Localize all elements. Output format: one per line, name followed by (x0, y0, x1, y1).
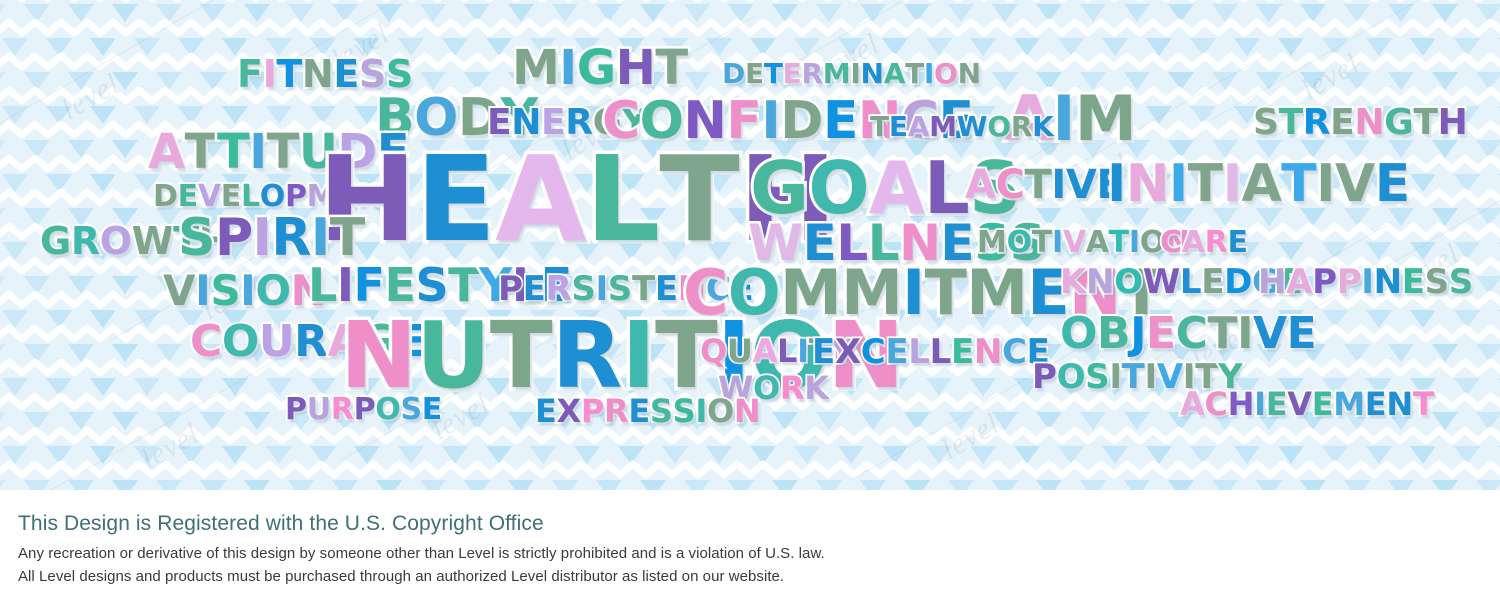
letter: A (1182, 228, 1205, 258)
letter: D (1224, 265, 1252, 299)
letter: N (1126, 158, 1169, 210)
letter: T (490, 310, 552, 402)
letter: E (1375, 158, 1410, 210)
letter: N (974, 335, 1002, 369)
letter: R (1011, 113, 1032, 141)
letter: T (1413, 388, 1435, 420)
letter: H (616, 44, 656, 92)
letter: V (163, 270, 195, 312)
word-cloud-artwork: levellevellevellevellevellevellevellevel… (0, 0, 1500, 490)
letter: I (1254, 388, 1266, 420)
letter: A (1086, 228, 1109, 258)
letter: E (812, 335, 835, 369)
letter: R (802, 60, 823, 88)
letter: T (217, 128, 249, 176)
letter: A (965, 165, 996, 205)
letter: V (1287, 388, 1311, 420)
letter: I (195, 270, 210, 312)
letter: T (1279, 105, 1303, 141)
letter: R (331, 395, 354, 425)
letter: P (354, 395, 376, 425)
letter: U (259, 320, 294, 364)
letter: I (1109, 360, 1121, 394)
letter: P (285, 395, 307, 425)
word-achievement: ACHIEVEMENT (1180, 388, 1434, 420)
copyright-footer: This Design is Registered with the U.S. … (0, 490, 1500, 600)
letter: K (1032, 113, 1053, 141)
letter: O (987, 113, 1011, 141)
letter: T (905, 60, 924, 88)
letter: O (222, 320, 259, 364)
letter: N (1086, 265, 1114, 299)
word-excellence: EXCELLENCE (812, 335, 1049, 369)
letter: C (190, 320, 222, 364)
letter: N (861, 60, 884, 88)
letter: W (957, 113, 988, 141)
letter: S (1449, 265, 1473, 299)
letter: T (870, 113, 889, 141)
letter: W (132, 222, 174, 260)
letter: W (1143, 265, 1180, 299)
letter: T (330, 212, 365, 264)
letter: E (885, 335, 908, 369)
word-purpose: PURPOSE (285, 395, 442, 425)
letter: S (178, 212, 215, 264)
letter: H (1228, 388, 1254, 420)
letter: E (1227, 228, 1247, 258)
letter: I (797, 335, 809, 367)
letter: O (1007, 228, 1032, 258)
letter: R (552, 310, 622, 402)
letter: N (1386, 388, 1412, 420)
letter: Q (700, 335, 727, 367)
letter: S (1425, 265, 1449, 299)
letter: O (1060, 312, 1097, 356)
letter: A (495, 140, 585, 258)
letter: V (1066, 165, 1097, 205)
letter: E (951, 335, 974, 369)
word-active: ACTIVE (965, 165, 1123, 205)
letter: S (673, 395, 696, 427)
letter: G (577, 44, 616, 92)
letter: O (255, 270, 290, 312)
word-motivation: MOTIVATION (977, 228, 1190, 258)
letter: E (1402, 265, 1425, 299)
letter: A (1241, 158, 1281, 210)
word-initiative: INITIATIVE (1107, 158, 1410, 210)
letter: O (934, 60, 958, 88)
letter: T (764, 60, 783, 88)
letter: O (707, 395, 734, 427)
letter: P (498, 272, 523, 306)
letter: H (1438, 105, 1468, 141)
letter: T (1188, 158, 1223, 210)
letter: B (1097, 312, 1130, 356)
letter: P (215, 212, 253, 264)
letter: S (571, 272, 595, 306)
letter: I (622, 310, 655, 402)
letter: A (1180, 388, 1204, 420)
letter: T (267, 128, 299, 176)
letter: N (734, 395, 760, 427)
letter: T (185, 128, 217, 176)
letter: P (1312, 265, 1337, 299)
letter: S (650, 395, 673, 427)
letter: V (1157, 360, 1183, 394)
letter: O (100, 222, 132, 260)
letter: E (1365, 388, 1387, 420)
letter: P (1337, 265, 1362, 299)
letter: I (924, 60, 934, 88)
letter: I (253, 212, 272, 264)
word-teamwork: TEAMWORK (870, 113, 1054, 141)
letter: M (1075, 88, 1136, 150)
letter: I (263, 55, 277, 93)
word-objective: OBJECTIVE (1060, 312, 1316, 356)
letter: M (966, 262, 1027, 324)
letter: N (302, 55, 333, 93)
letter: E (1287, 312, 1317, 356)
letter: L (585, 140, 659, 258)
letter: M (977, 228, 1007, 258)
letter: N (1374, 265, 1402, 299)
letter: E (745, 60, 764, 88)
letter: G (1384, 105, 1413, 141)
letter: M (823, 60, 851, 88)
letter: M (929, 113, 957, 141)
letter: C (1176, 312, 1208, 356)
letter: K (1060, 265, 1086, 299)
letter: V (1063, 228, 1086, 258)
letter: R (271, 212, 311, 264)
letter: I (695, 395, 707, 427)
letter: I (902, 262, 924, 324)
letter: S (400, 395, 421, 425)
letter: P (581, 395, 604, 427)
letter: I (1051, 165, 1065, 205)
letter: R (780, 372, 804, 404)
letter: D (722, 60, 745, 88)
letter: N (340, 310, 416, 402)
letter: S (1085, 360, 1109, 394)
letter: L (930, 335, 951, 369)
letter: L (777, 335, 797, 367)
footer-line-2: All Level designs and products must be p… (18, 568, 1482, 585)
letter: I (1316, 158, 1335, 210)
letter: E (422, 395, 442, 425)
letter: N (958, 60, 981, 88)
letter: X (835, 335, 861, 369)
letter: I (1052, 228, 1063, 258)
letter: A (148, 128, 185, 176)
letter: E (889, 113, 908, 141)
letter: U (307, 395, 331, 425)
letter: D (153, 182, 178, 212)
word-happiness: HAPPINESS (1258, 265, 1473, 299)
letter: E (333, 55, 359, 93)
letter: I (1145, 360, 1157, 394)
letter: E (1266, 388, 1288, 420)
word-care: CARE (1160, 228, 1248, 258)
letter: E (535, 395, 557, 427)
letter: O (1114, 265, 1143, 299)
letter: X (557, 395, 581, 427)
letter: I (1361, 265, 1373, 299)
letter: U (416, 310, 490, 402)
letter: C (1204, 388, 1227, 420)
letter: T (1122, 360, 1145, 394)
letter: L (1180, 265, 1201, 299)
letter: T (1109, 228, 1129, 258)
letter: T (276, 55, 302, 93)
letter: O (375, 395, 400, 425)
letter: A (884, 60, 905, 88)
letter: C (996, 165, 1025, 205)
letter: S (210, 270, 240, 312)
letter: E (1312, 388, 1334, 420)
letter: I (249, 128, 266, 176)
letter: E (523, 272, 546, 306)
letter: E (1330, 105, 1354, 141)
letter: E (655, 272, 678, 306)
letter: T (632, 272, 655, 306)
letter: I (1223, 158, 1242, 210)
letter: L (908, 335, 929, 369)
letter: T (1208, 312, 1238, 356)
letter: V (1335, 158, 1375, 210)
letter: N (1354, 105, 1384, 141)
letter: I (311, 212, 330, 264)
letter: T (1025, 165, 1052, 205)
letter: A (1286, 265, 1312, 299)
word-spirit: SPIRIT (178, 212, 365, 264)
letter: R (1303, 105, 1330, 141)
letter: C (861, 335, 886, 369)
letter: R (545, 272, 571, 306)
letter: I (1129, 228, 1140, 258)
letter: E (1201, 265, 1224, 299)
letter: C (1002, 335, 1027, 369)
letter: M (1333, 388, 1365, 420)
letter: E (783, 60, 802, 88)
letter: I (1237, 312, 1253, 356)
letter: J (1130, 312, 1146, 356)
letter: I (240, 270, 255, 312)
letter: H (1258, 265, 1286, 299)
letter: R (604, 395, 628, 427)
footer-title: This Design is Registered with the U.S. … (18, 512, 1482, 536)
letter: R (1205, 228, 1228, 258)
letter: I (850, 60, 860, 88)
letter: T (1281, 158, 1316, 210)
letter: U (727, 335, 753, 367)
letter: T (655, 44, 687, 92)
letter: T (925, 262, 967, 324)
letter: S (1253, 105, 1279, 141)
letter: L (308, 262, 337, 308)
letter: A (753, 335, 777, 367)
word-determination: DETERMINATION (722, 60, 981, 88)
letter: I (1052, 88, 1074, 150)
word-expression: EXPRESSION (535, 395, 760, 427)
letter: R (294, 320, 327, 364)
footer-line-1: Any recreation or derivative of this des… (18, 545, 1482, 562)
letter: I (1107, 158, 1126, 210)
letter: A (908, 113, 929, 141)
letter: E (1146, 312, 1176, 356)
letter: S (608, 272, 632, 306)
word-might: MIGHT (512, 44, 688, 92)
letter: G (40, 222, 71, 260)
word-strength: STRENGTH (1253, 105, 1467, 141)
letter: T (659, 140, 738, 258)
letter: K (804, 372, 828, 404)
letter: I (1169, 158, 1188, 210)
letter: T (1032, 228, 1052, 258)
letter: E (628, 395, 650, 427)
letter: E (416, 140, 495, 258)
letter: I (595, 272, 607, 306)
letter: I (559, 44, 576, 92)
letter: C (1160, 228, 1182, 258)
letter: T (1413, 105, 1437, 141)
letter: P (1032, 360, 1057, 394)
letter: M (512, 44, 559, 92)
letter: R (71, 222, 100, 260)
word-vision: VISION (163, 270, 325, 312)
letter: V (1253, 312, 1287, 356)
letter: F (237, 55, 263, 93)
letter: O (1057, 360, 1086, 394)
